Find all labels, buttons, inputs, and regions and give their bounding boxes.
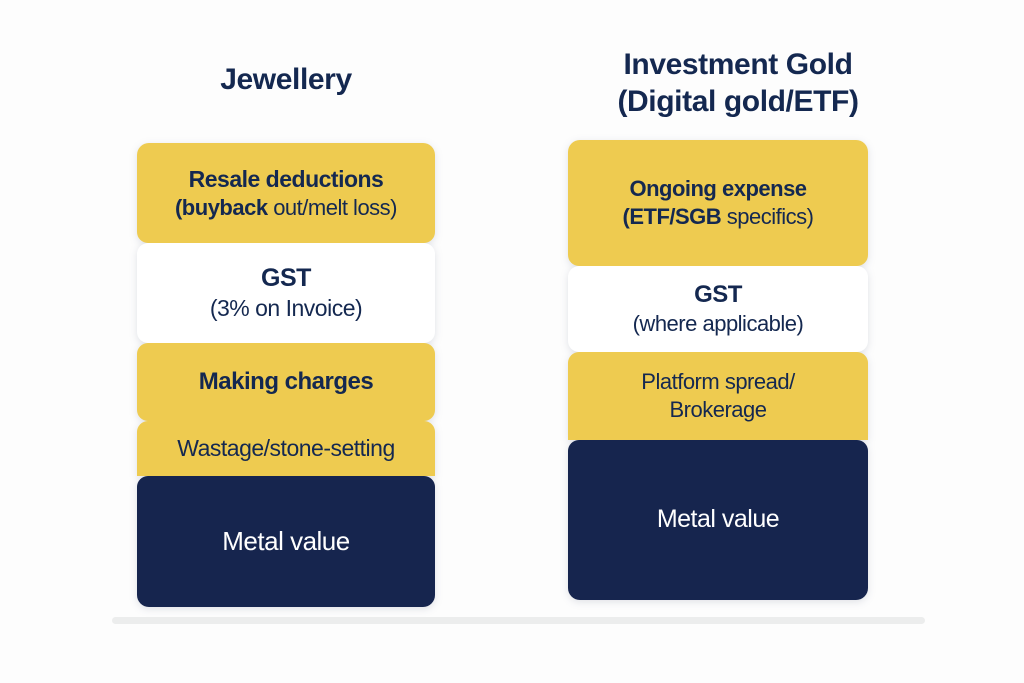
column-title-line: Investment Gold: [578, 47, 898, 84]
segment-line-secondary-regular: out/melt loss): [268, 195, 397, 220]
stack-segment-gst-investment-gold[interactable]: GST (where applicable): [568, 266, 868, 352]
baseline-rule: [112, 617, 925, 624]
stack-segment-wastage-stone-setting[interactable]: Wastage/stone-setting: [137, 421, 435, 476]
segment-line-primary: Resale deductions: [189, 165, 384, 194]
segment-line-primary: GST: [694, 280, 742, 310]
segment-line-primary: Wastage/stone-setting: [177, 434, 395, 463]
stack-segment-metal-value-jewellery[interactable]: Metal value: [137, 476, 435, 607]
segment-line-secondary-bold: (buyback: [175, 195, 268, 220]
cost-stack-jewellery: Resale deductions (buyback out/melt loss…: [137, 143, 435, 607]
segment-line-secondary: (3% on Invoice): [210, 294, 362, 323]
infographic-canvas: Jewellery Resale deductions (buyback out…: [0, 0, 1024, 683]
column-title-line: Jewellery: [137, 62, 435, 99]
segment-line-secondary: (where applicable): [633, 310, 804, 338]
stack-segment-resale-deductions[interactable]: Resale deductions (buyback out/melt loss…: [137, 143, 435, 243]
stack-segment-gst-jewellery[interactable]: GST (3% on Invoice): [137, 243, 435, 343]
segment-line-primary: Metal value: [657, 504, 779, 536]
segment-line-primary: Metal value: [222, 525, 349, 558]
segment-line-secondary: Brokerage: [669, 396, 766, 424]
segment-line-secondary-regular: specifics): [721, 204, 813, 229]
segment-line-secondary-bold: (ETF/SGB: [623, 204, 722, 229]
cost-stack-investment-gold: Ongoing expense (ETF/SGB specifics) GST …: [568, 140, 868, 600]
segment-line-primary: Platform spread/: [641, 368, 794, 396]
column-title-investment-gold: Investment Gold (Digital gold/ETF): [578, 47, 898, 120]
stack-segment-metal-value-investment-gold[interactable]: Metal value: [568, 440, 868, 600]
stack-segment-platform-spread-brokerage[interactable]: Platform spread/ Brokerage: [568, 352, 868, 440]
segment-line-primary: Making charges: [199, 367, 373, 397]
column-title-jewellery: Jewellery: [137, 62, 435, 99]
segment-line-primary: GST: [261, 263, 311, 295]
column-title-line: (Digital gold/ETF): [578, 84, 898, 121]
stack-segment-ongoing-expense[interactable]: Ongoing expense (ETF/SGB specifics): [568, 140, 868, 266]
segment-line-secondary: (buyback out/melt loss): [175, 194, 397, 222]
segment-line-primary: Ongoing expense: [629, 175, 806, 203]
stack-segment-making-charges[interactable]: Making charges: [137, 343, 435, 421]
segment-line-secondary: (ETF/SGB specifics): [623, 203, 814, 231]
